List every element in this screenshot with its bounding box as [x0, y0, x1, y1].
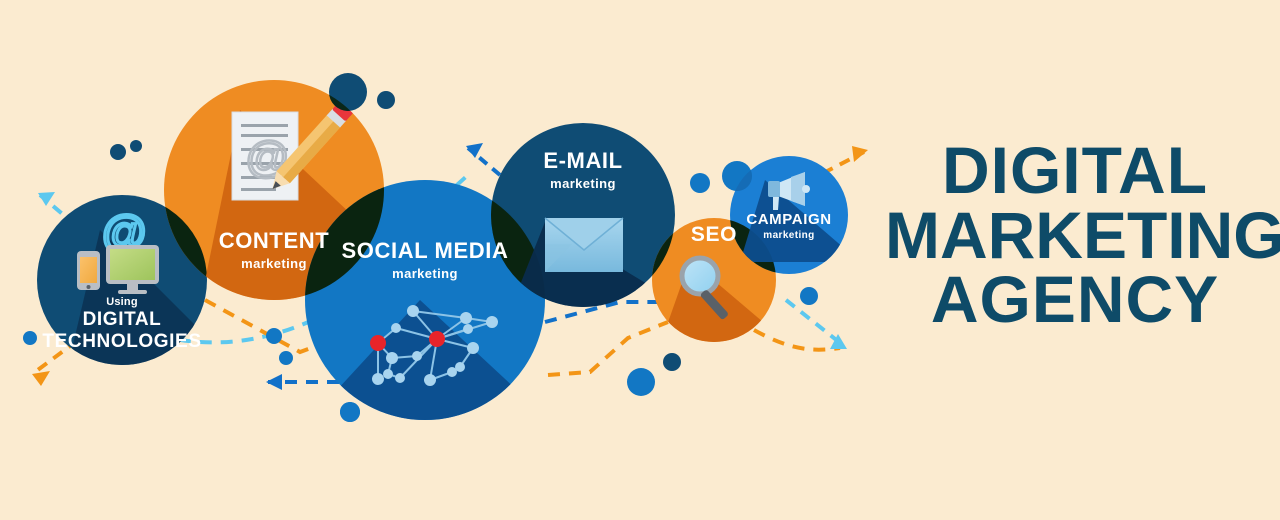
document-icon: @	[232, 112, 298, 200]
dot	[266, 328, 282, 344]
envelope-icon	[545, 218, 623, 272]
title-line-1: DIGITAL	[885, 140, 1265, 201]
title-line-3: AGENCY	[885, 269, 1265, 330]
dot	[130, 140, 142, 152]
dot	[627, 368, 655, 396]
dot	[663, 353, 681, 371]
title-line-2: MARKETING	[885, 205, 1265, 266]
page-title: DIGITAL MARKETING AGENCY	[885, 140, 1265, 334]
network-node-highlight	[429, 331, 445, 347]
network-node-highlight	[370, 335, 386, 351]
dot	[377, 91, 395, 109]
smartphone-icon	[77, 251, 100, 290]
digital-marketing-banner: @	[0, 0, 1280, 520]
dot	[279, 351, 293, 365]
dot	[340, 402, 360, 422]
dot	[23, 331, 37, 345]
dot	[110, 144, 126, 160]
dot	[800, 287, 818, 305]
dot	[690, 173, 710, 193]
